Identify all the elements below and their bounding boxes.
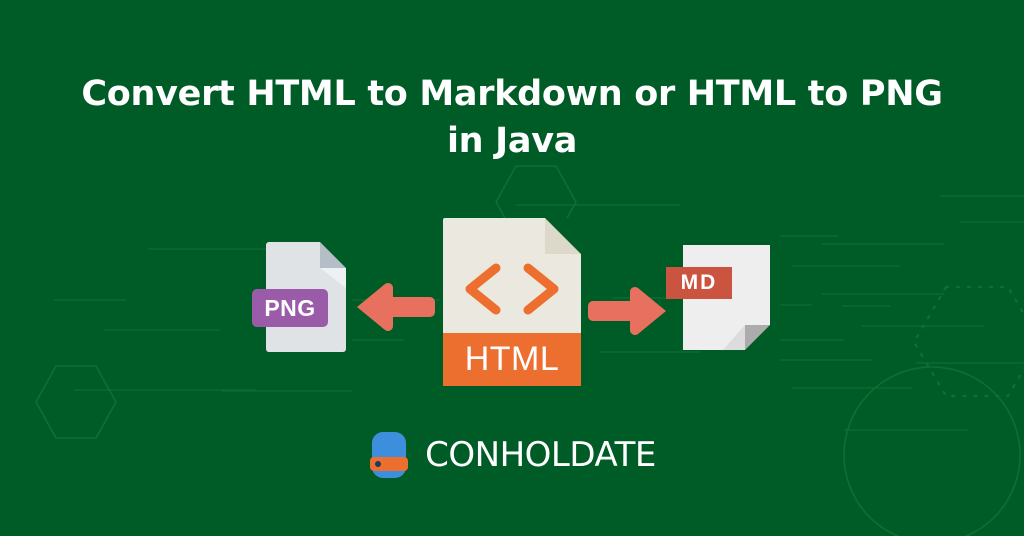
html-fold-corner [545, 218, 581, 254]
md-fold-shade [723, 325, 745, 350]
html-band-label: HTML [443, 333, 581, 386]
conversion-graphic: PNG HTML [0, 170, 1024, 410]
brand-name: CONHOLDATE [425, 438, 656, 472]
png-fold-shade [320, 268, 346, 288]
md-document-icon: MD [683, 245, 770, 350]
arrow-right-icon [587, 282, 671, 340]
png-badge-label: PNG [252, 289, 328, 327]
md-badge-label: MD [666, 267, 732, 299]
arrow-left-icon [352, 278, 436, 336]
md-fold-corner [745, 325, 770, 350]
brand-logo: CONHOLDATE [0, 430, 1024, 480]
page-title: Convert HTML to Markdown or HTML to PNG … [0, 71, 1024, 163]
conholdate-logo-icon [368, 430, 414, 480]
promo-banner: Convert HTML to Markdown or HTML to PNG … [0, 0, 1024, 536]
png-fold-corner [320, 242, 346, 268]
html-document-icon: HTML [443, 218, 581, 386]
png-document-icon: PNG [266, 242, 346, 352]
code-brackets-icon [443, 260, 581, 318]
